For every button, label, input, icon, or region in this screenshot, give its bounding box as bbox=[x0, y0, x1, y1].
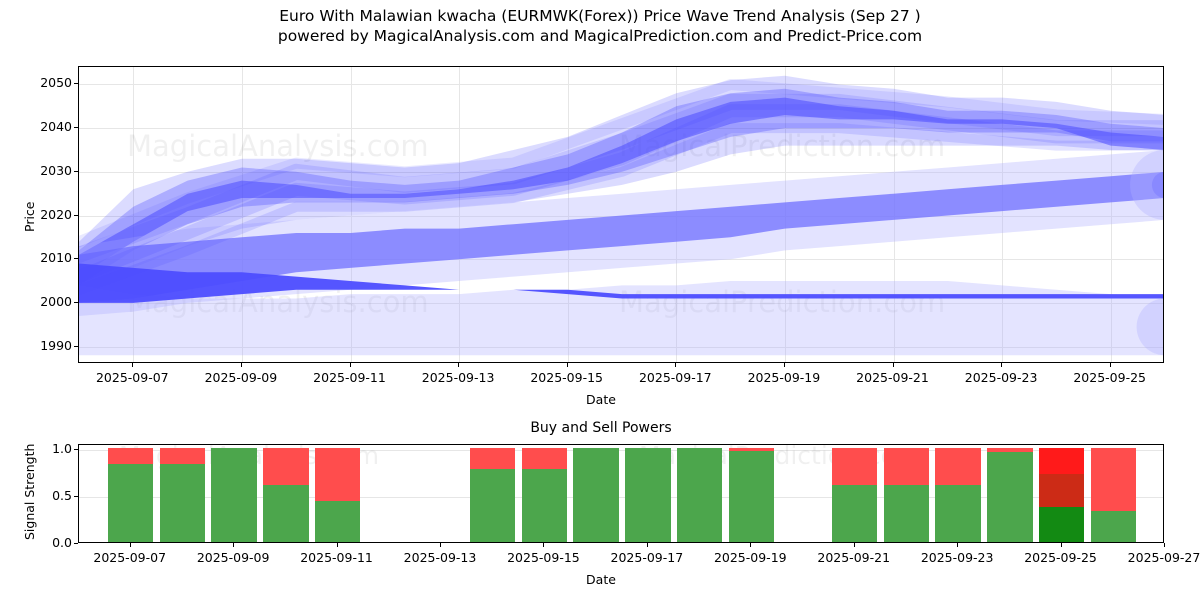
price-x-tickmark bbox=[1001, 363, 1002, 367]
price-x-tickmark bbox=[567, 363, 568, 367]
price-y-tickmark bbox=[74, 302, 78, 303]
signal-strength-y-tickmark bbox=[74, 543, 78, 544]
sell-power-segment bbox=[263, 448, 309, 485]
power-bar[interactable] bbox=[884, 448, 930, 542]
price-y-tickmark bbox=[74, 346, 78, 347]
powers-x-tick-label: 2025-09-27 bbox=[1128, 550, 1200, 565]
powers-date-axis-label: Date bbox=[586, 572, 616, 587]
price-x-tick-label: 2025-09-09 bbox=[205, 370, 278, 385]
price-y-tickmark bbox=[74, 215, 78, 216]
powers-x-tick-label: 2025-09-13 bbox=[404, 550, 477, 565]
price-y-tickmark bbox=[74, 258, 78, 259]
buy-power-segment bbox=[573, 448, 619, 542]
price-y-tickmark bbox=[74, 171, 78, 172]
powers-x-tick-label: 2025-09-21 bbox=[817, 550, 890, 565]
price-wave-bands bbox=[79, 67, 1164, 363]
sell-power-segment bbox=[729, 448, 775, 451]
powers-x-tickmark bbox=[957, 543, 958, 547]
price-x-tick-label: 2025-09-25 bbox=[1073, 370, 1146, 385]
powers-x-tick-label: 2025-09-07 bbox=[93, 550, 166, 565]
power-bar[interactable] bbox=[211, 448, 257, 542]
price-x-tick-label: 2025-09-13 bbox=[422, 370, 495, 385]
sell-power-segment bbox=[832, 448, 878, 486]
signal-strength-y-tickmark bbox=[74, 449, 78, 450]
price-x-tickmark bbox=[132, 363, 133, 367]
buy-power-segment bbox=[832, 485, 878, 542]
signal-strength-y-tick-label: 0.0 bbox=[34, 535, 72, 550]
powers-x-tickmark bbox=[1164, 543, 1165, 547]
sell-power-segment bbox=[1039, 448, 1085, 474]
price-y-tick-label: 2000 bbox=[30, 294, 72, 309]
sell-power-segment bbox=[470, 448, 516, 470]
powers-x-tickmark bbox=[337, 543, 338, 547]
price-x-tick-label: 2025-09-15 bbox=[530, 370, 603, 385]
buy-power-segment bbox=[677, 448, 723, 542]
power-bar[interactable] bbox=[573, 448, 619, 542]
powers-x-tickmark bbox=[1061, 543, 1062, 547]
powers-x-tick-label: 2025-09-19 bbox=[714, 550, 787, 565]
title-line-2: powered by MagicalAnalysis.com and Magic… bbox=[0, 26, 1200, 46]
buy-power-segment bbox=[884, 485, 930, 543]
buy-power-segment bbox=[470, 469, 516, 542]
powers-x-tick-label: 2025-09-17 bbox=[611, 550, 684, 565]
price-y-tickmark bbox=[74, 127, 78, 128]
powers-x-tick-label: 2025-09-25 bbox=[1024, 550, 1097, 565]
power-bar[interactable] bbox=[263, 448, 309, 542]
title-line-1: Euro With Malawian kwacha (EURMWK(Forex)… bbox=[0, 6, 1200, 26]
buy-power-segment bbox=[935, 485, 981, 543]
powers-x-tick-label: 2025-09-11 bbox=[300, 550, 373, 565]
price-x-tick-label: 2025-09-23 bbox=[965, 370, 1038, 385]
powers-x-tickmark bbox=[233, 543, 234, 547]
signal-strength-axis-label: Signal Strength bbox=[22, 444, 37, 540]
powers-x-tickmark bbox=[130, 543, 131, 547]
buy-power-segment bbox=[522, 469, 568, 542]
price-x-tickmark bbox=[675, 363, 676, 367]
sell-power-mid-segment bbox=[1039, 474, 1085, 507]
price-x-tickmark bbox=[350, 363, 351, 367]
buy-power-segment bbox=[987, 452, 1033, 542]
power-bar[interactable] bbox=[987, 448, 1033, 542]
power-bar[interactable] bbox=[1039, 448, 1085, 542]
page-title: Euro With Malawian kwacha (EURMWK(Forex)… bbox=[0, 6, 1200, 46]
power-bar[interactable] bbox=[677, 448, 723, 542]
price-x-tickmark bbox=[1110, 363, 1111, 367]
price-y-tick-label: 2010 bbox=[30, 250, 72, 265]
sell-power-segment bbox=[522, 448, 568, 470]
power-bar[interactable] bbox=[160, 448, 206, 542]
power-bar[interactable] bbox=[315, 448, 361, 542]
buy-power-segment bbox=[211, 448, 257, 542]
power-bar[interactable] bbox=[935, 448, 981, 542]
powers-x-tick-label: 2025-09-09 bbox=[197, 550, 270, 565]
price-y-tick-label: 1990 bbox=[30, 338, 72, 353]
buy-sell-powers-plot-area: MagicalAnalysis.comMagicalPrediction.com bbox=[78, 444, 1164, 543]
powers-x-tickmark bbox=[854, 543, 855, 547]
price-x-tickmark bbox=[241, 363, 242, 367]
chart-page: Euro With Malawian kwacha (EURMWK(Forex)… bbox=[0, 0, 1200, 600]
power-bar[interactable] bbox=[522, 448, 568, 542]
sell-power-segment bbox=[987, 448, 1033, 453]
sell-power-segment bbox=[108, 448, 154, 464]
buy-power-segment bbox=[108, 464, 154, 542]
sell-power-segment bbox=[315, 448, 361, 501]
price-y-tick-label: 2030 bbox=[30, 163, 72, 178]
price-x-tickmark bbox=[784, 363, 785, 367]
buy-power-segment bbox=[1091, 511, 1137, 542]
signal-strength-y-tickmark bbox=[74, 496, 78, 497]
buy-power-segment bbox=[729, 451, 775, 542]
buy-sell-powers-title: Buy and Sell Powers bbox=[530, 418, 671, 438]
sell-power-segment bbox=[1091, 448, 1137, 511]
power-bar[interactable] bbox=[729, 448, 775, 542]
sell-power-segment bbox=[160, 448, 206, 464]
price-x-tick-label: 2025-09-19 bbox=[748, 370, 821, 385]
powers-x-tickmark bbox=[647, 543, 648, 547]
buy-power-segment bbox=[160, 464, 206, 542]
buy-power-segment bbox=[625, 448, 671, 542]
power-bar[interactable] bbox=[470, 448, 516, 542]
powers-x-tickmark bbox=[750, 543, 751, 547]
price-y-tick-label: 2040 bbox=[30, 119, 72, 134]
powers-x-tick-label: 2025-09-15 bbox=[507, 550, 580, 565]
sell-power-segment bbox=[935, 448, 981, 485]
price-axis-label: Price bbox=[22, 202, 37, 233]
buy-power-segment bbox=[315, 501, 361, 542]
price-x-tick-label: 2025-09-17 bbox=[639, 370, 712, 385]
price-x-tick-label: 2025-09-07 bbox=[96, 370, 169, 385]
powers-x-tick-label: 2025-09-23 bbox=[921, 550, 994, 565]
sell-power-segment bbox=[884, 448, 930, 485]
powers-x-tickmark bbox=[440, 543, 441, 547]
buy-power-segment bbox=[1039, 507, 1085, 542]
buy-power-segment bbox=[263, 485, 309, 543]
price-date-axis-label: Date bbox=[586, 392, 616, 407]
price-x-tickmark bbox=[458, 363, 459, 367]
price-wave-plot-area: MagicalAnalysis.comMagicalPrediction.com… bbox=[78, 66, 1164, 363]
power-bar[interactable] bbox=[832, 448, 878, 542]
powers-x-tickmark bbox=[543, 543, 544, 547]
signal-strength-y-tick-label: 0.5 bbox=[34, 488, 72, 503]
power-bar[interactable] bbox=[108, 448, 154, 542]
price-x-tick-label: 2025-09-11 bbox=[313, 370, 386, 385]
price-y-tickmark bbox=[74, 83, 78, 84]
price-y-tick-label: 2050 bbox=[30, 75, 72, 90]
power-bar[interactable] bbox=[625, 448, 671, 542]
signal-strength-y-tick-label: 1.0 bbox=[34, 441, 72, 456]
price-x-tick-label: 2025-09-21 bbox=[856, 370, 929, 385]
price-x-tickmark bbox=[893, 363, 894, 367]
power-bar[interactable] bbox=[1091, 448, 1137, 542]
